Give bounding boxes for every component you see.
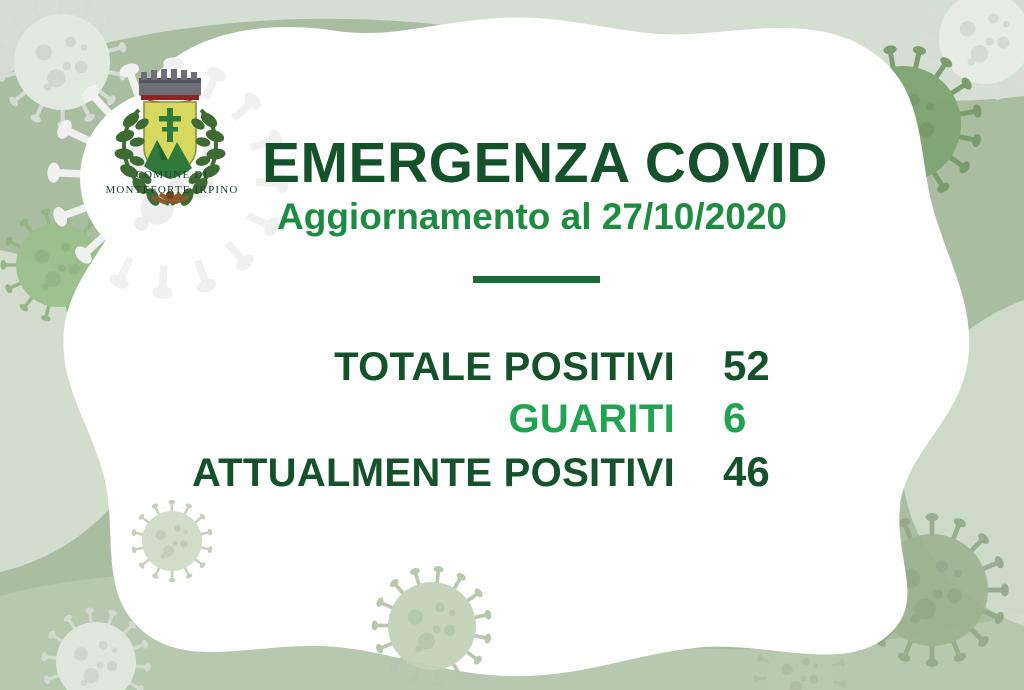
stat-value: 52 xyxy=(723,342,770,390)
stat-value: 46 xyxy=(723,448,770,496)
stat-row-guariti: GUARITI 6 xyxy=(0,394,1024,442)
page-subtitle: Aggiornamento al 27/10/2020 xyxy=(262,196,802,238)
crest-caption-line2: MONTEFORTE IRPINO xyxy=(72,183,272,198)
poster-content: COMUNE DI MONTEFORTE IRPINO EMERGENZA CO… xyxy=(0,0,1024,690)
divider xyxy=(473,276,600,283)
stat-label: TOTALE POSITIVI xyxy=(0,345,675,390)
stat-label: GUARITI xyxy=(0,397,675,442)
stat-label: ATTUALMENTE POSITIVI xyxy=(0,451,675,496)
crest-caption: COMUNE DI MONTEFORTE IRPINO xyxy=(72,168,272,198)
stats-list: TOTALE POSITIVI 52 GUARITI 6 ATTUALMENTE… xyxy=(0,342,1024,500)
stat-value: 6 xyxy=(723,394,746,442)
crest-caption-line1: COMUNE DI xyxy=(72,168,272,183)
crown-icon xyxy=(139,69,201,104)
covid-update-poster: COMUNE DI MONTEFORTE IRPINO EMERGENZA CO… xyxy=(0,0,1024,690)
page-title: EMERGENZA COVID xyxy=(262,132,802,194)
stat-row-totale-positivi: TOTALE POSITIVI 52 xyxy=(0,342,1024,390)
stat-row-attualmente-positivi: ATTUALMENTE POSITIVI 46 xyxy=(0,448,1024,496)
